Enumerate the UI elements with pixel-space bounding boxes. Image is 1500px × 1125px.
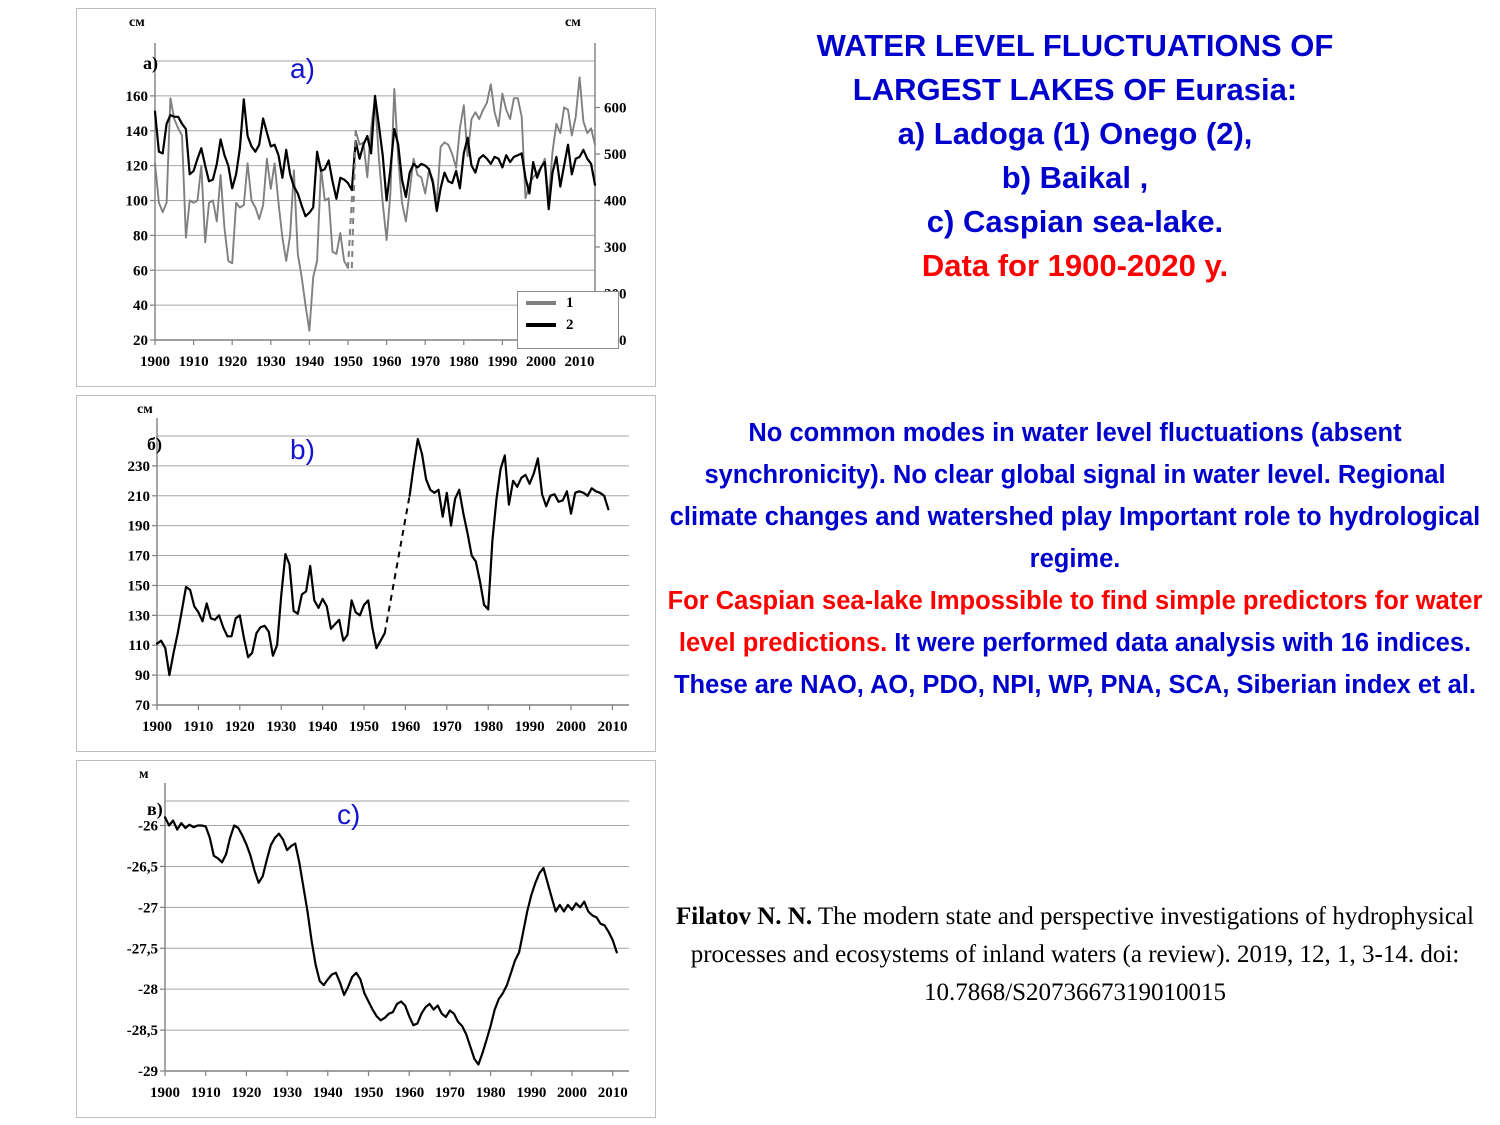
- x-tick-label: 1950: [354, 1085, 384, 1101]
- axis-unit-left-a: см: [129, 15, 145, 31]
- y-tick-label: -27,5: [127, 941, 158, 957]
- legend-swatch-series2: [526, 323, 556, 327]
- y-tick-label: 80: [133, 228, 148, 244]
- panel-label-a: a): [290, 53, 315, 85]
- series-line-Caspian: [165, 817, 617, 1064]
- body-text: No common modes in water level fluctuati…: [665, 412, 1485, 706]
- y-tick-label: 230: [128, 459, 151, 475]
- x-tick-label: 1990: [515, 719, 545, 735]
- y-tick-label: -28: [138, 982, 158, 998]
- y-tick-label: 140: [126, 124, 149, 140]
- y-tick-label-right: 400: [604, 194, 627, 210]
- legend-label-series1: 1: [566, 295, 574, 312]
- series-line-Baikal: [157, 554, 385, 675]
- y-tick-label-right: 500: [604, 147, 627, 163]
- chart-c-plot: -26-26,5-27-27,5-28-28,5-291900191019201…: [77, 761, 657, 1119]
- x-tick-label: 1950: [349, 719, 379, 735]
- x-tick-label: 1920: [217, 354, 247, 370]
- x-tick-label: 2010: [598, 1085, 628, 1101]
- y-tick-label: -27: [138, 900, 158, 916]
- y-tick-label: 170: [128, 549, 151, 565]
- title-line-1: WATER LEVEL FLUCTUATIONS OF: [665, 24, 1485, 68]
- y-tick-label: -29: [138, 1064, 158, 1080]
- y-tick-label: 100: [126, 194, 149, 210]
- x-tick-label: 1930: [256, 354, 286, 370]
- x-tick-label: 1900: [150, 1085, 180, 1101]
- y-tick-label: 40: [133, 298, 148, 314]
- x-tick-label: 1920: [231, 1085, 261, 1101]
- x-tick-label: 1950: [333, 354, 363, 370]
- y-tick-label: 160: [126, 89, 149, 105]
- y-tick-label: 20: [133, 333, 148, 349]
- x-tick-label: 1990: [516, 1085, 546, 1101]
- legend-entry-1: 1: [518, 292, 618, 314]
- y-tick-label-right: 600: [604, 101, 627, 117]
- chart-a-legend: 1 2: [517, 291, 619, 349]
- x-tick-label: 1960: [390, 719, 420, 735]
- y-tick-label: -26: [138, 819, 158, 835]
- title-block: WATER LEVEL FLUCTUATIONS OF LARGEST LAKE…: [665, 24, 1485, 288]
- x-tick-label: 1980: [476, 1085, 506, 1101]
- slide-root: см см a) a) 2040608010012014016010020030…: [0, 0, 1500, 1125]
- y-tick-label: 70: [135, 698, 150, 714]
- chart-panel-c: м в) c) -26-26,5-27-27,5-28-28,5-2919001…: [76, 760, 656, 1118]
- title-line-2: LARGEST LAKES OF Eurasia:: [665, 68, 1485, 112]
- x-tick-label: 2000: [557, 1085, 587, 1101]
- x-tick-label: 2010: [565, 354, 595, 370]
- title-line-3: a) Ladoga (1) Onego (2),: [665, 112, 1485, 156]
- x-tick-label: 1960: [372, 354, 402, 370]
- axis-unit-right-a: см: [565, 15, 581, 31]
- x-tick-label: 2000: [526, 354, 556, 370]
- x-tick-label: 1940: [308, 719, 338, 735]
- panel-label-c: c): [337, 799, 360, 831]
- series-line-Baikal: [410, 439, 609, 609]
- y-tick-label: 120: [126, 159, 149, 175]
- y-tick-label: 150: [128, 578, 151, 594]
- panel-tag-c: в): [147, 799, 163, 820]
- y-tick-label: -26,5: [127, 859, 158, 875]
- y-tick-label: 90: [135, 668, 150, 684]
- chart-panel-a: см см a) a) 2040608010012014016010020030…: [76, 8, 656, 387]
- x-tick-label: 1910: [183, 719, 213, 735]
- y-tick-label: -28,5: [127, 1023, 158, 1039]
- body-part-1: No common modes in water level fluctuati…: [670, 419, 1481, 573]
- y-tick-label-right: 300: [604, 240, 627, 256]
- citation-author: Filatov N. N.: [676, 903, 812, 930]
- x-tick-label: 1960: [394, 1085, 424, 1101]
- series-line-2: [155, 96, 595, 216]
- title-line-4: b) Baikal ,: [665, 156, 1485, 200]
- x-tick-label: 1970: [432, 719, 462, 735]
- legend-swatch-series1: [526, 301, 556, 305]
- panel-tag-b: б): [147, 434, 162, 455]
- panel-tag-a: a): [143, 53, 158, 74]
- series-line-1: [155, 98, 348, 331]
- panel-label-b: b): [290, 434, 315, 466]
- y-tick-label: 60: [133, 263, 148, 279]
- y-tick-label: 210: [128, 489, 151, 505]
- axis-unit-left-b: см: [137, 402, 153, 418]
- x-tick-label: 2000: [556, 719, 586, 735]
- x-tick-label: 1970: [435, 1085, 465, 1101]
- x-tick-label: 1940: [294, 354, 324, 370]
- title-line-5: c) Caspian sea-lake.: [665, 200, 1485, 244]
- legend-entry-2: 2: [518, 314, 618, 336]
- chart-panel-b: см б) b) 7090110130150170190210230190019…: [76, 395, 656, 752]
- x-tick-label: 1930: [266, 719, 296, 735]
- legend-label-series2: 2: [566, 317, 574, 334]
- x-tick-label: 1920: [225, 719, 255, 735]
- y-tick-label: 190: [128, 519, 151, 535]
- axis-unit-left-c: м: [139, 767, 149, 783]
- title-line-6: Data for 1900-2020 y.: [665, 244, 1485, 288]
- y-tick-label: 110: [128, 638, 150, 654]
- x-tick-label: 1900: [140, 354, 170, 370]
- y-tick-label: 130: [128, 608, 151, 624]
- charts-column: см см a) a) 2040608010012014016010020030…: [76, 8, 656, 1118]
- x-tick-label: 1990: [487, 354, 517, 370]
- x-tick-label: 1910: [179, 354, 209, 370]
- x-tick-label: 1910: [191, 1085, 221, 1101]
- citation-block: Filatov N. N. The modern state and persp…: [675, 898, 1475, 1012]
- x-tick-label: 1930: [272, 1085, 302, 1101]
- chart-b-plot: 7090110130150170190210230190019101920193…: [77, 396, 657, 753]
- x-tick-label: 1970: [410, 354, 440, 370]
- x-tick-label: 1900: [142, 719, 172, 735]
- x-tick-label: 1980: [449, 354, 479, 370]
- x-tick-label: 1940: [313, 1085, 343, 1101]
- x-tick-label: 1980: [473, 719, 503, 735]
- x-tick-label: 2010: [597, 719, 627, 735]
- text-column: WATER LEVEL FLUCTUATIONS OF LARGEST LAKE…: [665, 0, 1485, 1125]
- series-gap-dashed: [385, 496, 410, 633]
